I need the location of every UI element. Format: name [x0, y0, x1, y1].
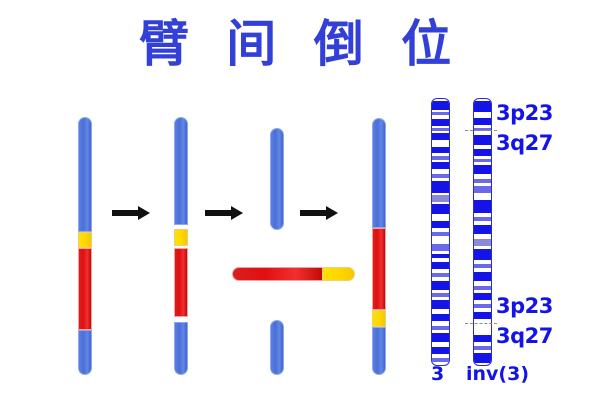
label-3q27-lower: 3q27	[496, 324, 553, 348]
label-3p23-upper: 3p23	[496, 101, 553, 125]
ideogram-3-band	[432, 244, 449, 251]
ideogram-3-band	[432, 181, 449, 193]
ideogram-inv3-band	[474, 217, 491, 221]
page-title: 臂 间 倒 位	[0, 14, 600, 74]
ideogram-3-band	[432, 221, 449, 228]
ideogram-name-normal: 3	[431, 363, 444, 385]
ideogram-3-band	[432, 204, 449, 214]
ideogram-chromosome-3	[431, 98, 450, 366]
chr2-p-arm-blue	[174, 117, 188, 225]
ideogram-inv-3	[473, 98, 492, 366]
ideogram-3-band	[432, 147, 449, 153]
ideogram-3-band	[432, 358, 449, 362]
ideogram-inv3-band	[474, 312, 491, 319]
ideogram-3-band	[432, 112, 449, 115]
ideogram-inv3-band	[474, 101, 491, 112]
chr4-p-arm-blue	[372, 118, 386, 228]
ideogram-3-band	[432, 326, 449, 330]
chr4-centromere	[372, 310, 386, 327]
ideogram-3-band	[432, 101, 449, 110]
ideogram-inv3-band	[474, 225, 491, 234]
ideogram-inv3-band	[474, 353, 491, 363]
ideogram-inv3-band	[474, 272, 491, 281]
ideogram-inv3-band	[474, 239, 491, 246]
chr1-q-arm-blue	[78, 330, 92, 375]
ideogram-3-band	[432, 293, 449, 297]
chr3-q-fragment-blue	[270, 320, 284, 375]
ideogram-inv3-band	[474, 346, 491, 350]
inversion-diagram	[62, 96, 407, 378]
chr3-inverted-fragment-centromere	[322, 267, 355, 281]
ideogram-3-band	[432, 156, 449, 160]
ideogram-3-band	[432, 347, 449, 354]
ideogram-inv3-band	[474, 149, 491, 156]
ideogram-3-band	[432, 254, 449, 258]
chr1-centromere	[78, 232, 92, 248]
chr1-q-arm-red	[78, 248, 92, 330]
ideogram-3-band	[432, 333, 449, 342]
ideogram-inv3-band	[474, 293, 491, 300]
ideogram-inv3-band	[474, 286, 491, 290]
label-3q27-upper: 3q27	[496, 131, 553, 155]
ideogram-inv3-band	[474, 135, 491, 145]
ideogram-inv3-band	[474, 249, 491, 260]
ideogram-3-band	[432, 195, 449, 202]
ideogram-inv3-band	[474, 264, 491, 268]
ideogram-inv3-band	[474, 335, 491, 342]
ideogram-inv3-band	[474, 200, 491, 213]
chr3-inverted-fragment-red	[232, 267, 324, 281]
ideogram-3-band	[432, 262, 449, 269]
ideogram-3-band	[432, 300, 449, 309]
label-3p23-lower: 3p23	[496, 294, 553, 318]
ideogram-3-band	[432, 273, 449, 277]
ideogram-3-band	[432, 162, 449, 169]
slide-canvas: 臂 间 倒 位	[0, 0, 600, 400]
ideogram-name-inverted: inv(3)	[466, 363, 529, 385]
chr3-p-fragment-blue	[270, 128, 284, 230]
chr2-centromere	[174, 229, 188, 246]
chr4-q-arm-blue	[372, 327, 386, 375]
ideogram-3-band	[432, 232, 449, 236]
ideogram-3-band	[432, 133, 449, 140]
ideogram-3-band	[432, 314, 449, 321]
ideogram-3-band	[432, 281, 449, 290]
chr2-q-arm-red	[174, 248, 188, 317]
breakpoint-tick-lower	[465, 323, 497, 324]
ideogram-inv3-band	[474, 179, 491, 183]
ideogram-3-band	[432, 128, 449, 131]
arrow-2	[205, 206, 243, 220]
chr1-p-arm-blue	[78, 117, 92, 232]
ideogram-inv3-band	[474, 186, 491, 193]
ideogram-inv3-band	[474, 159, 491, 162]
breakpoint-tick-upper	[465, 130, 497, 131]
arrow-3	[300, 206, 338, 220]
ideogram-inv3-band	[474, 165, 491, 174]
arrow-1	[112, 206, 150, 220]
ideogram-3-band	[432, 119, 449, 126]
ideogram-inv3-band	[474, 118, 491, 125]
ideogram-3-band	[432, 174, 449, 178]
ideogram-inv3-band	[474, 304, 491, 308]
chr2-q-arm-blue	[174, 322, 188, 375]
chr4-inverted-red	[372, 228, 386, 310]
